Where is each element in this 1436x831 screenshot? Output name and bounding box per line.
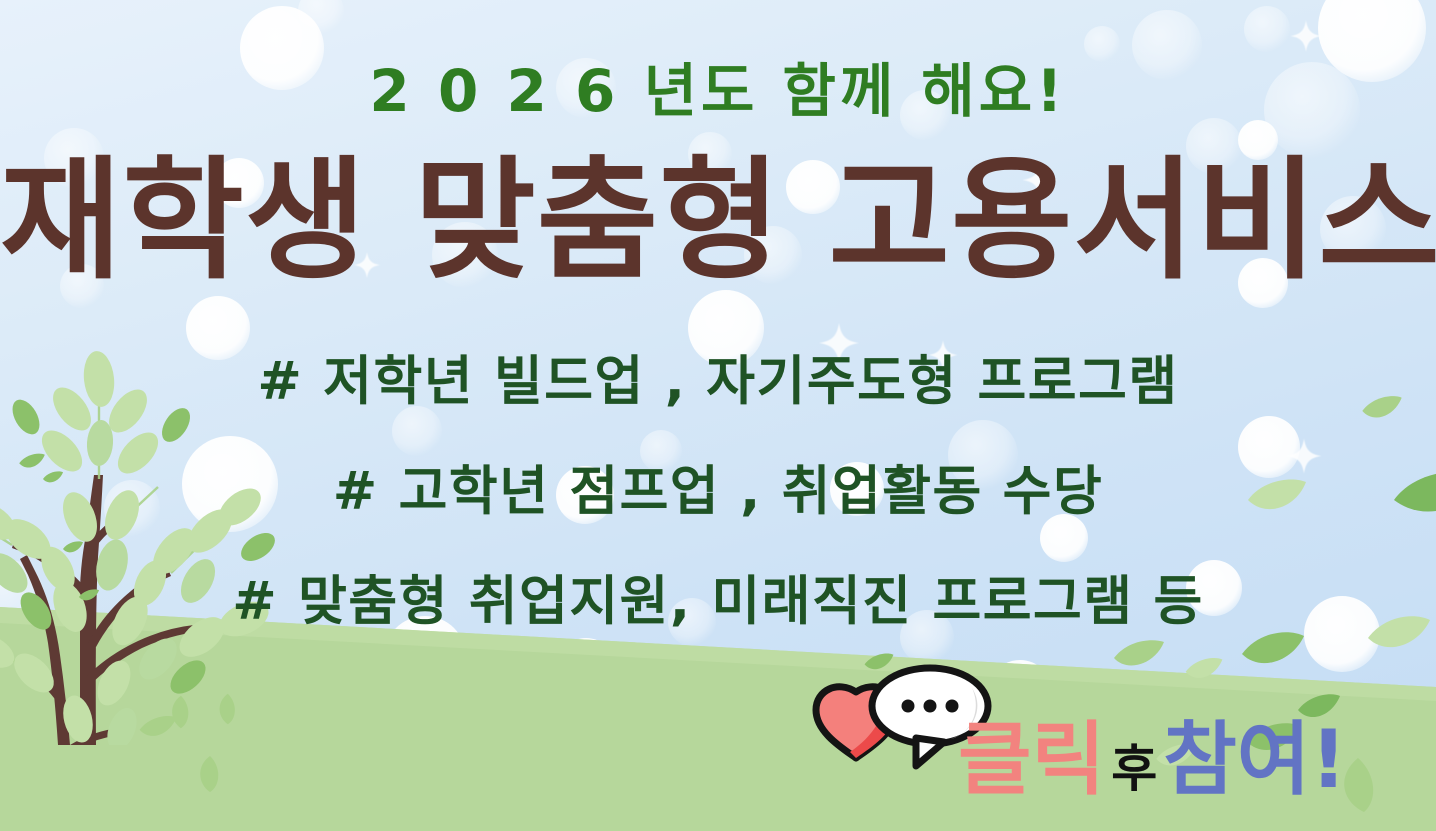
bullet-list: # 저학년 빌드업 , 자기주도형 프로그램 # 고학년 점프업 , 취업활동 … [0,355,1436,628]
leaf-icon [216,692,238,726]
cta-wordmark[interactable]: 클릭 후 참여! [958,720,1347,800]
click-and-join-cta[interactable]: 클릭 후 참여! [812,662,1372,822]
eyebrow-text: 2 0 2 6 년도 함께 해요! [0,62,1436,120]
cta-join-label[interactable]: 참여! [1163,720,1347,800]
leaf-icon [196,754,222,794]
cta-connector-label: 후 [1111,744,1157,800]
leaf-icon [168,694,192,730]
page-title: 재학생 맞춤형 고용서비스 [0,152,1436,291]
bokeh-light [1244,6,1290,52]
list-item: # 고학년 점프업 , 취업활동 수당 [0,465,1436,518]
list-item: # 저학년 빌드업 , 자기주도형 프로그램 [0,355,1436,408]
list-item: # 맞춤형 취업지원, 미래직진 프로그램 등 [0,575,1436,628]
bokeh-light [1084,26,1120,62]
cta-click-label[interactable]: 클릭 [958,720,1105,800]
promo-banner: 2 0 2 6 년도 함께 해요! 재학생 맞춤형 고용서비스 # 저학년 빌드… [0,0,1436,831]
sparkle-star-icon [1288,18,1324,54]
